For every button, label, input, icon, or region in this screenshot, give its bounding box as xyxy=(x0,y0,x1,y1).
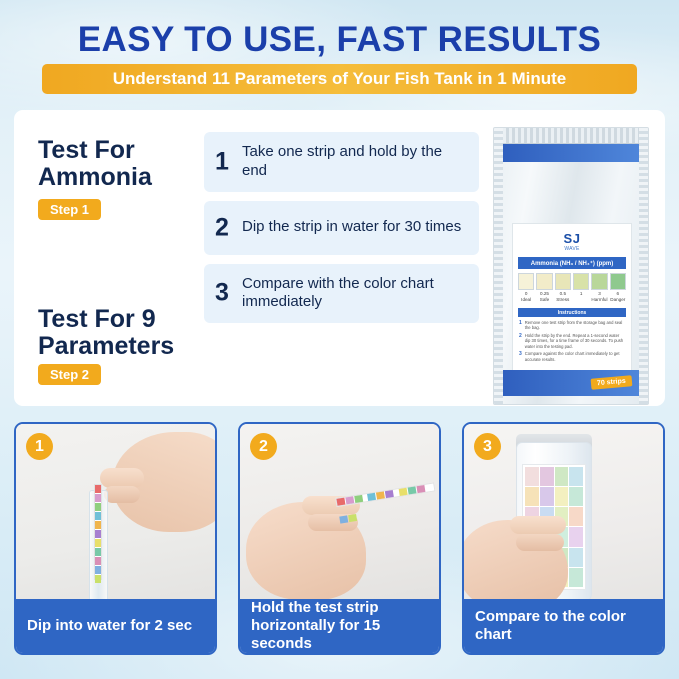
sachet-top-band xyxy=(503,144,639,162)
test-strip-vertical xyxy=(94,484,102,580)
card-caption: Compare to the color chart xyxy=(464,599,663,653)
color-pad xyxy=(573,273,589,290)
label-instruction-item: 2 Hold the strip by the end. Repeat a 1-… xyxy=(519,333,625,349)
color-pad xyxy=(591,273,607,290)
brand-logo: SJ WAVE xyxy=(513,231,631,252)
label-instruction-item: 3 Compare against the color chart immedi… xyxy=(519,351,625,362)
step-2-badge-wrap: Step 2 xyxy=(38,364,101,385)
pad-value: 0.5 xyxy=(555,291,571,296)
card-caption: Dip into water for 2 sec xyxy=(16,599,215,653)
color-pad xyxy=(555,273,571,290)
product-sachet-image: SJ WAVE Ammonia (NH₃ / NH₄⁺) (ppm) 0 0.2… xyxy=(493,127,649,405)
label-instruction-text: Compare against the color chart immediat… xyxy=(525,351,625,362)
ammonia-pad-values: 0 0.25 0.5 1 3 6 xyxy=(518,291,626,296)
test-for-ammonia-heading: Test For Ammonia xyxy=(38,137,152,191)
step-item: 3 Compare with the color chart immediate… xyxy=(204,264,479,324)
pad-label: Safe xyxy=(536,297,552,302)
step-1-badge-wrap: Step 1 xyxy=(38,199,101,220)
pad-value: 0 xyxy=(518,291,534,296)
step-number: 2 xyxy=(215,213,229,242)
pad-label: Harmful xyxy=(591,297,607,302)
ammonia-pad-labels: Ideal Safe Stress Harmful Danger xyxy=(518,297,626,302)
step-number: 3 xyxy=(215,279,229,308)
finger-illustration xyxy=(104,486,140,503)
photo-card-compare: 3 Compare to the color chart xyxy=(462,422,665,655)
card-badge: 2 xyxy=(250,433,277,460)
pad-label: Danger xyxy=(610,297,626,302)
pad-label xyxy=(573,297,589,302)
subtitle-text: Understand 11 Parameters of Your Fish Ta… xyxy=(113,69,566,89)
ammonia-color-pads xyxy=(518,273,626,290)
test-for-ammonia-line2: Ammonia xyxy=(38,164,152,191)
color-pad xyxy=(536,273,552,290)
ammonia-title-bar: Ammonia (NH₃ / NH₄⁺) (ppm) xyxy=(518,257,626,269)
label-instruction-number: 1 xyxy=(519,320,522,331)
finger-illustration xyxy=(510,516,566,534)
color-pad xyxy=(610,273,626,290)
step-2-badge: Step 2 xyxy=(38,364,101,385)
test-for-parameters-heading: Test For 9 Parameters xyxy=(38,306,174,360)
step-item: 1 Take one strip and hold by the end xyxy=(204,132,479,192)
label-instructions-list: 1 Remove one test strip from the storage… xyxy=(519,320,625,362)
step-label: Compare with the color chart immediately xyxy=(242,275,469,313)
pad-value: 1 xyxy=(573,291,589,296)
pad-label: Ideal xyxy=(518,297,534,302)
test-for-ammonia-line1: Test For xyxy=(38,136,135,164)
sachet-left-seal xyxy=(494,128,503,404)
test-for-parameters-line1: Test For 9 xyxy=(38,305,156,333)
photo-card-hold: 2 Hold the test strip horizontally for 1… xyxy=(238,422,441,655)
label-instruction-item: 1 Remove one test strip from the storage… xyxy=(519,320,625,331)
subtitle-banner: Understand 11 Parameters of Your Fish Ta… xyxy=(42,64,637,94)
photo-card-dip: 1 Dip into water for 2 sec xyxy=(14,422,217,655)
label-instruction-text: Hold the strip by the end. Repeat a 1-se… xyxy=(525,333,625,349)
step-label: Dip the strip in water for 30 times xyxy=(242,218,461,237)
label-instruction-text: Remove one test strip from the storage b… xyxy=(525,320,625,331)
label-instruction-number: 2 xyxy=(519,333,522,349)
product-label: SJ WAVE Ammonia (NH₃ / NH₄⁺) (ppm) 0 0.2… xyxy=(512,223,632,383)
brand-name: SJ xyxy=(564,231,581,246)
color-pad xyxy=(518,273,534,290)
step-label: Take one strip and hold by the end xyxy=(242,143,469,181)
card-caption: Hold the test strip horizontally for 15 … xyxy=(240,599,439,653)
sachet-right-seal xyxy=(639,128,648,404)
pad-value: 3 xyxy=(591,291,607,296)
pad-label: Stress xyxy=(555,297,571,302)
label-instruction-number: 3 xyxy=(519,351,522,362)
card-badge: 1 xyxy=(26,433,53,460)
sachet-tear-notch xyxy=(494,128,648,144)
brand-subname: WAVE xyxy=(513,246,631,252)
test-for-parameters-line2: Parameters xyxy=(38,333,174,360)
pad-value: 0.25 xyxy=(536,291,552,296)
steps-photo-cards: 1 Dip into water for 2 sec 2 xyxy=(14,422,665,655)
step-item: 2 Dip the strip in water for 30 times xyxy=(204,201,479,255)
steps-list: 1 Take one strip and hold by the end 2 D… xyxy=(204,132,479,332)
instructions-title-bar: Instructions xyxy=(518,308,626,317)
page-title: EASY TO USE, FAST RESULTS xyxy=(0,20,679,60)
pad-value: 6 xyxy=(610,291,626,296)
finger-illustration xyxy=(100,468,144,488)
finger-illustration xyxy=(516,534,564,551)
card-badge: 3 xyxy=(474,433,501,460)
step-1-badge: Step 1 xyxy=(38,199,101,220)
step-number: 1 xyxy=(215,147,229,176)
